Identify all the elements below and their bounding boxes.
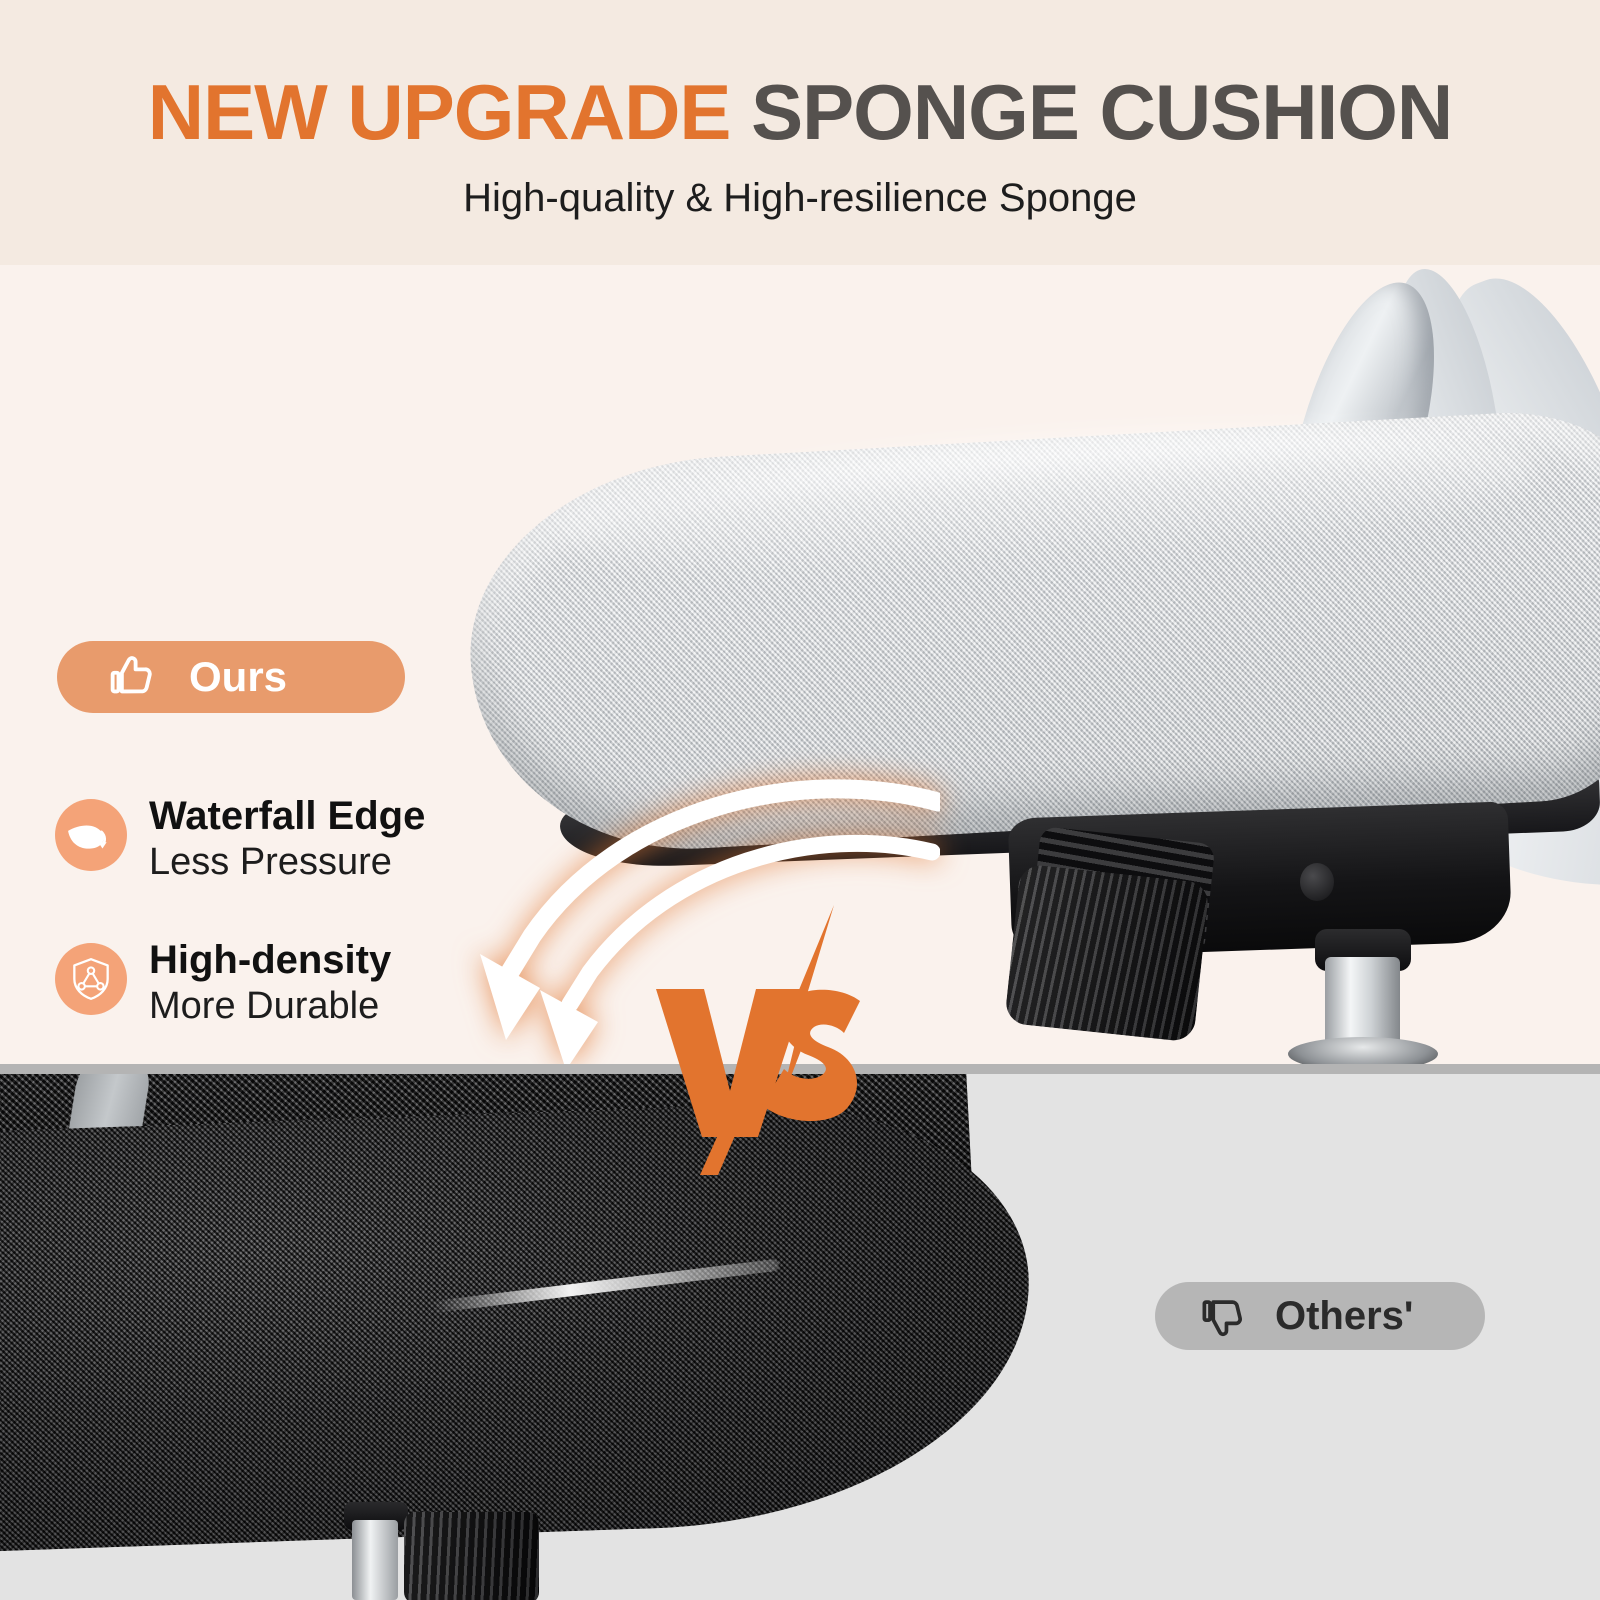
backrest-frame-mid bbox=[1375, 265, 1522, 573]
gas-cylinder-chrome bbox=[1325, 957, 1400, 1053]
gas-cylinder-chrome bbox=[352, 1520, 398, 1600]
seat-highlight bbox=[557, 407, 1543, 595]
feature-subtitle: Less Pressure bbox=[149, 840, 425, 886]
feature-item-waterfall-edge: Waterfall Edge Less Pressure bbox=[55, 793, 425, 886]
thumbs-up-icon bbox=[105, 650, 159, 704]
shield-density-icon bbox=[55, 943, 127, 1015]
backrest-frame-inner bbox=[1257, 267, 1463, 617]
feature-item-high-density: High-density More Durable bbox=[55, 937, 391, 1030]
thumbs-down-icon bbox=[1197, 1290, 1249, 1342]
grey-mesh-seat-cushion bbox=[460, 405, 1600, 860]
ours-badge-label: Ours bbox=[189, 656, 287, 698]
vs-icon bbox=[630, 905, 900, 1175]
feature-text-group: High-density More Durable bbox=[149, 937, 391, 1030]
tilt-mechanism-housing bbox=[1008, 801, 1513, 958]
feature-subtitle: More Durable bbox=[149, 984, 391, 1030]
feature-title: Waterfall Edge bbox=[149, 793, 425, 840]
gas-cylinder-collar bbox=[1315, 929, 1411, 971]
mechanism-pivot-bolt bbox=[1300, 863, 1334, 901]
feature-title: High-density bbox=[149, 937, 391, 984]
seat-shell-right bbox=[1400, 455, 1600, 885]
headline-highlight: NEW UPGRADE bbox=[148, 68, 731, 156]
headline-rest: SPONGE CUSHION bbox=[751, 68, 1452, 156]
tension-adjust-knob bbox=[404, 1512, 539, 1600]
waterfall-edge-icon bbox=[55, 799, 127, 871]
tension-screw-thread bbox=[1030, 826, 1216, 956]
page-subheadline: High-quality & High-resilience Sponge bbox=[0, 178, 1600, 218]
seat-underside-grey bbox=[559, 760, 1600, 870]
others-badge-label: Others' bbox=[1275, 1296, 1413, 1336]
page-headline: NEW UPGRADE SPONGE CUSHION bbox=[0, 73, 1600, 151]
others-badge[interactable]: Others' bbox=[1155, 1282, 1485, 1350]
vs-divider-graphic bbox=[630, 905, 900, 1175]
backrest-frame-outer bbox=[1411, 265, 1600, 646]
tension-adjust-knob bbox=[1004, 864, 1210, 1043]
feature-text-group: Waterfall Edge Less Pressure bbox=[149, 793, 425, 886]
ours-badge[interactable]: Ours bbox=[57, 641, 405, 713]
